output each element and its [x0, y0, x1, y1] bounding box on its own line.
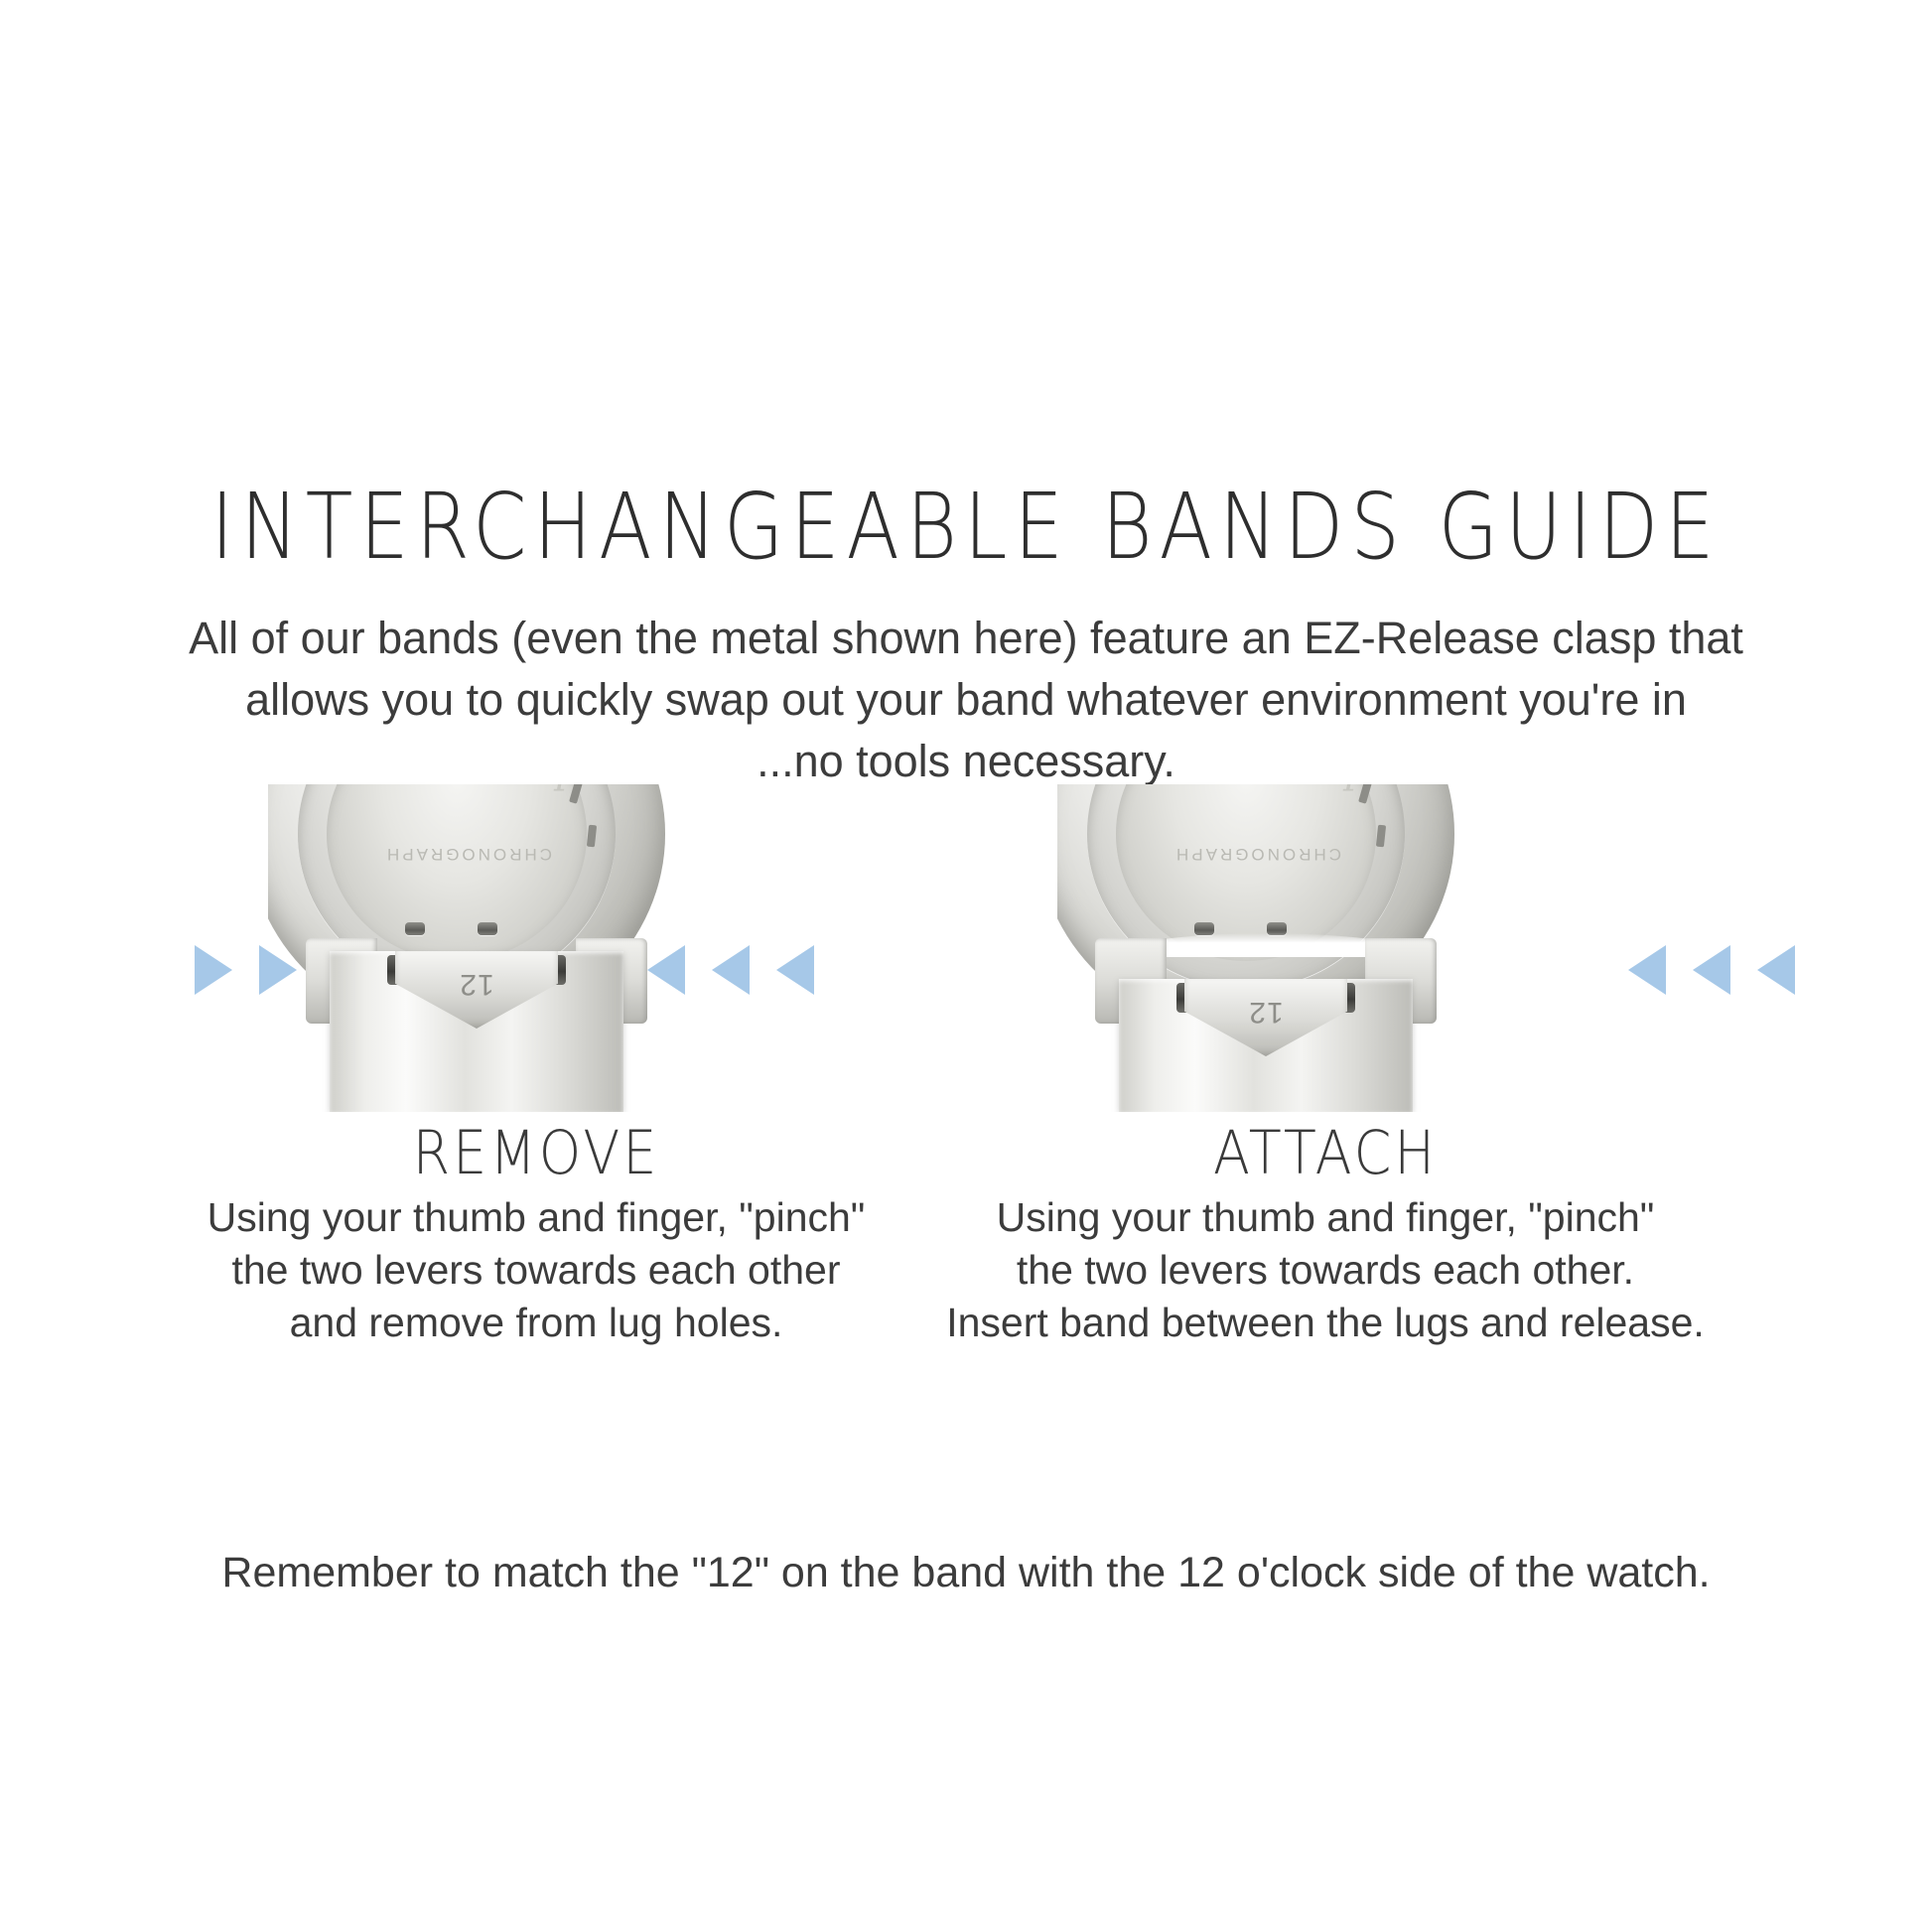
caseback-screw: [1194, 922, 1214, 935]
caseback-logo: Jason: [1265, 784, 1358, 797]
caption-line: the two levers towards each other.: [898, 1244, 1752, 1297]
intro-line-2: allows you to quickly swap out your band…: [122, 669, 1810, 731]
intro-paragraph: All of our bands (even the metal shown h…: [122, 608, 1810, 792]
step-caption-remove: Using your thumb and finger, "pinch" the…: [109, 1191, 963, 1349]
caption-line: Using your thumb and finger, "pinch": [898, 1191, 1752, 1244]
watch-photo-remove: CHRONOGRAPH Jason: [109, 784, 963, 1112]
caseback-engraving: CHRONOGRAPH: [384, 844, 552, 864]
caption-line: and remove from lug holes.: [109, 1297, 963, 1349]
caseback-screw: [405, 922, 425, 935]
watch-band: 12: [330, 951, 623, 1112]
intro-line-3: ...no tools necessary.: [122, 731, 1810, 792]
caseback-screw: [478, 922, 497, 935]
guide-page: INTERCHANGEABLE BANDS GUIDE All of our b…: [0, 0, 1932, 1932]
caption-line: Using your thumb and finger, "pinch": [109, 1191, 963, 1244]
watch-band: 12: [1119, 979, 1413, 1112]
caseback-notch: [587, 824, 597, 847]
caption-line: Insert band between the lugs and release…: [898, 1297, 1752, 1349]
step-attach: CHRONOGRAPH Jason: [898, 784, 1752, 1340]
footer-note: Remember to match the "12" on the band w…: [0, 1549, 1932, 1597]
band-end-link: 12: [1184, 979, 1347, 1056]
watch-illustration: CHRONOGRAPH Jason: [268, 784, 685, 1112]
caseback-logo: Jason: [476, 784, 569, 797]
caseback-center: CHRONOGRAPH Jason: [327, 784, 587, 961]
step-heading-attach: ATTACH: [898, 1118, 1752, 1188]
step-caption-attach: Using your thumb and finger, "pinch" the…: [898, 1191, 1752, 1349]
watch-photo-attach: CHRONOGRAPH Jason: [898, 784, 1752, 1112]
step-remove: CHRONOGRAPH Jason: [109, 784, 963, 1340]
step-heading-remove: REMOVE: [109, 1118, 963, 1188]
watch-illustration: CHRONOGRAPH Jason: [1057, 784, 1474, 1112]
caption-line: the two levers towards each other: [109, 1244, 963, 1297]
caseback-engraving: CHRONOGRAPH: [1173, 844, 1341, 864]
band-12-marking: 12: [459, 967, 493, 1001]
band-end-link: 12: [395, 951, 558, 1029]
page-title: INTERCHANGEABLE BANDS GUIDE: [0, 475, 1932, 580]
steps-container: CHRONOGRAPH Jason: [0, 784, 1932, 1340]
caseback-notch: [1376, 824, 1386, 847]
intro-line-1: All of our bands (even the metal shown h…: [122, 608, 1810, 669]
band-12-marking: 12: [1248, 995, 1283, 1029]
